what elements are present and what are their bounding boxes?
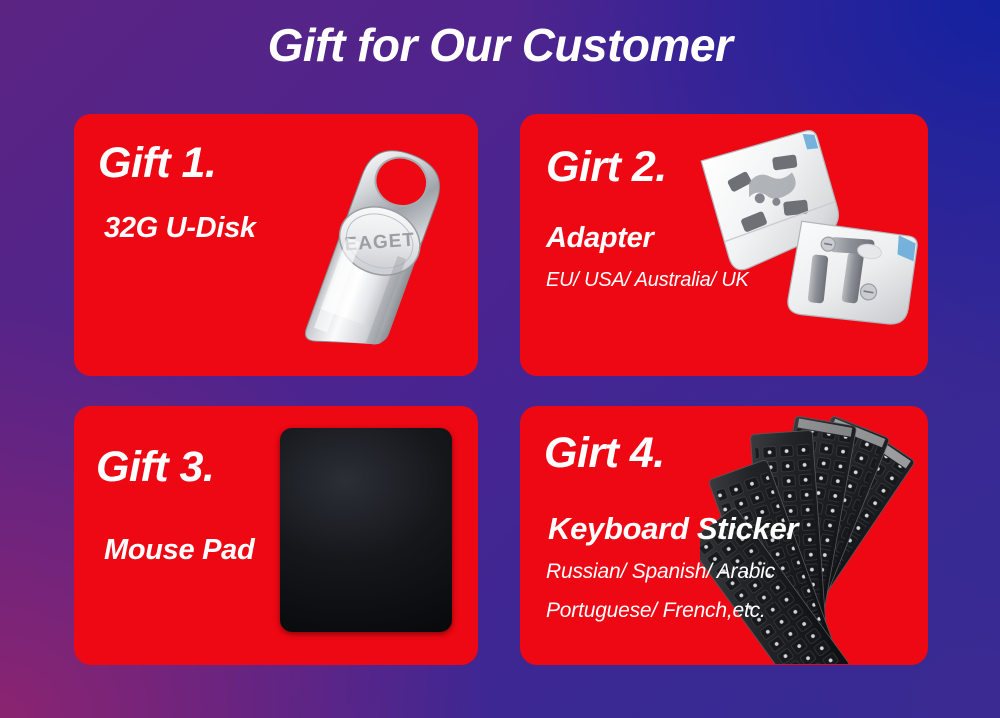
gift-card-3[interactable]: Gift 3. Mouse Pad: [74, 406, 478, 665]
gift-card-2-heading: Girt 2.: [546, 146, 876, 189]
page-title: Gift for Our Customer: [0, 18, 1000, 72]
gift-card-3-subtitle: Mouse Pad: [104, 535, 426, 565]
gift-card-1-text: Gift 1. 32G U-Disk: [98, 142, 428, 243]
gift-card-2-text: Girt 2. Adapter EU/ USA/ Australia/ UK: [546, 146, 876, 294]
gift-promo-banner: Gift for Our Customer Gift 1. 32G U-Disk: [0, 0, 1000, 718]
gift-card-1-heading: Gift 1.: [98, 142, 428, 185]
power-adapter-icon: [676, 120, 926, 340]
gift-card-2-detail-1: EU/ USA/ Australia/ UK: [546, 267, 876, 293]
mouse-pad-surface: [280, 428, 452, 632]
gift-card-4[interactable]: Girt 4. Keyboard Sticker Russian/ Spanis…: [520, 406, 928, 665]
gift-card-grid: Gift 1. 32G U-Disk: [74, 114, 928, 665]
gift-card-2-subtitle: Adapter: [546, 223, 876, 253]
gift-card-4-heading: Girt 4.: [544, 432, 889, 475]
gift-card-3-text: Gift 3. Mouse Pad: [96, 446, 426, 565]
gift-card-1-subtitle: 32G U-Disk: [104, 213, 428, 243]
gift-card-4-subtitle: Keyboard Sticker: [548, 513, 889, 546]
gift-card-4-text: Girt 4. Keyboard Sticker Russian/ Spanis…: [544, 432, 889, 625]
gift-card-3-heading: Gift 3.: [96, 446, 426, 489]
usb-flash-drive-icon: EAGET: [280, 128, 470, 374]
gift-card-2[interactable]: Girt 2. Adapter EU/ USA/ Australia/ UK: [520, 114, 928, 376]
gift-card-4-detail-1: Russian/ Spanish/ Arabic: [546, 558, 889, 586]
gift-card-4-detail-2: Portuguese/ French,etc.: [546, 597, 889, 625]
usb-brand-label: EAGET: [344, 230, 416, 256]
gift-card-1[interactable]: Gift 1. 32G U-Disk: [74, 114, 478, 376]
mouse-pad-icon: [280, 428, 452, 632]
keyboard-sticker-icon: [700, 412, 928, 664]
